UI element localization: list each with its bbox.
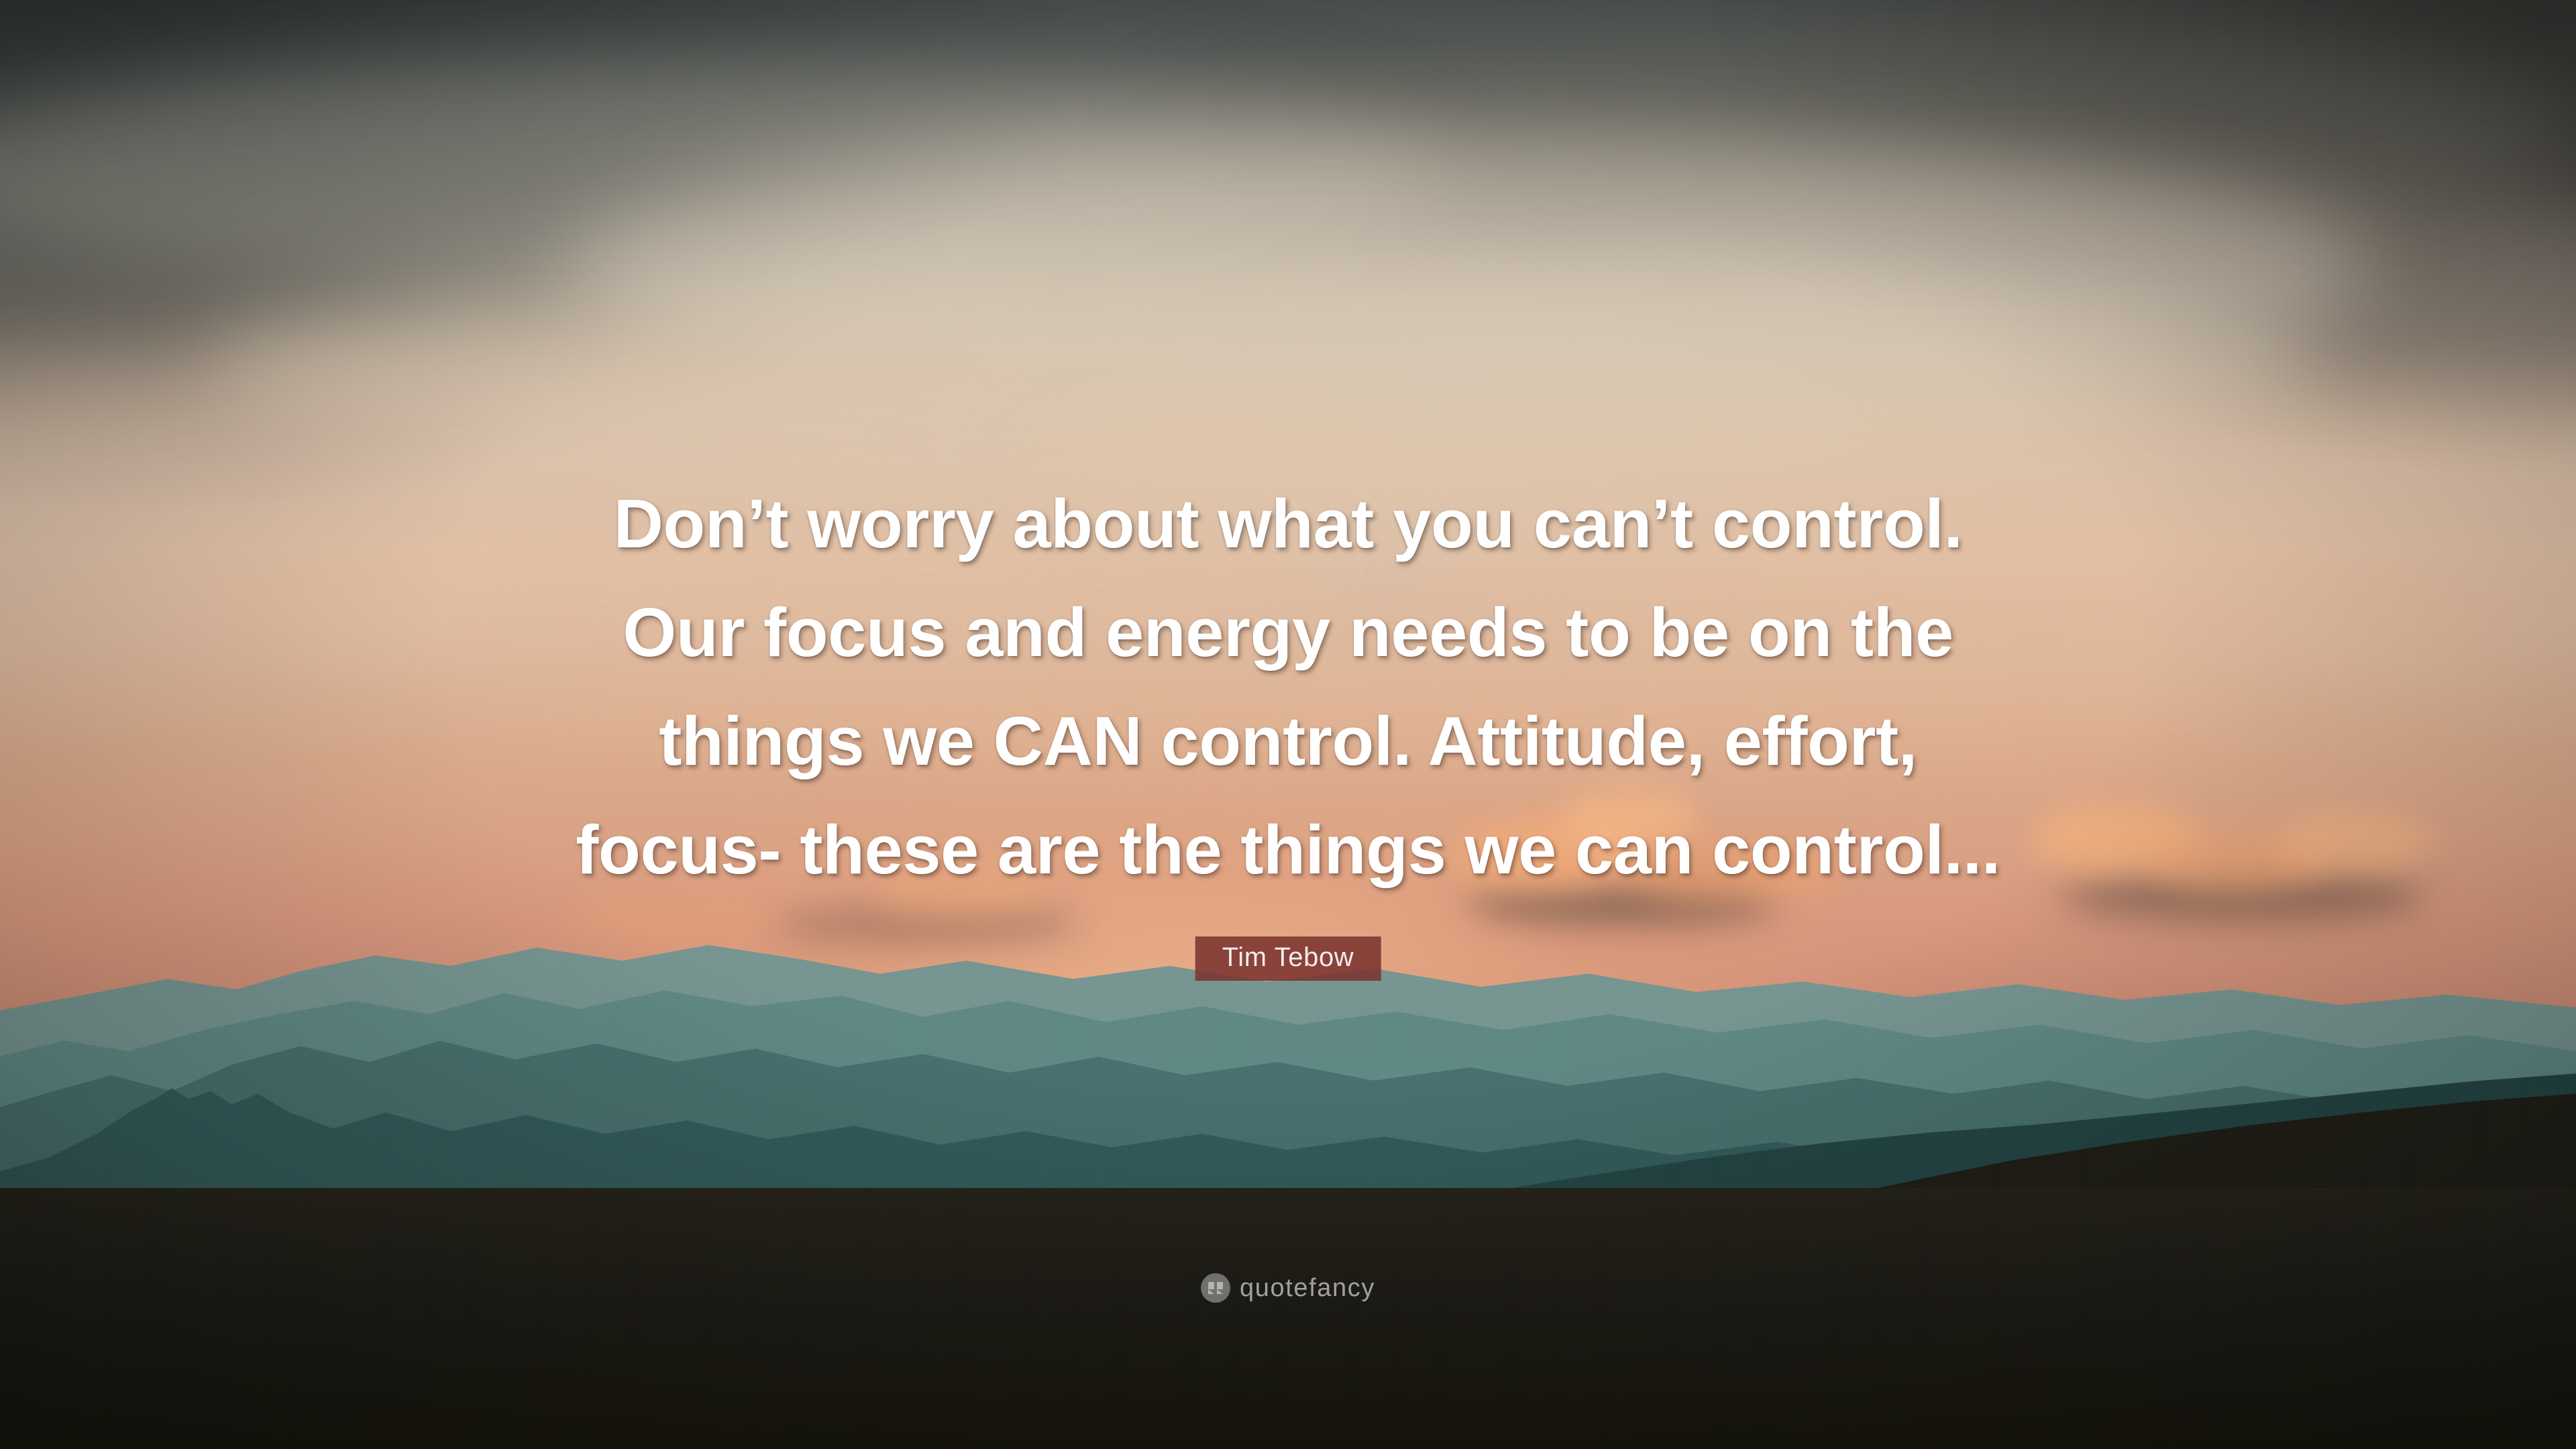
author-badge[interactable]: Tim Tebow: [1195, 936, 1381, 981]
quote-line-1: Don’t worry about what you can’t control…: [436, 470, 2140, 578]
quote-line-3: things we CAN control. Attitude, effort,: [436, 687, 2140, 796]
foreground-field: [0, 1188, 2576, 1449]
quote-mark-icon: [1201, 1273, 1230, 1303]
quote-line-2: Our focus and energy needs to be on the: [436, 578, 2140, 687]
quotefancy-watermark[interactable]: quotefancy: [1201, 1273, 1375, 1303]
quote-line-4: focus- these are the things we can contr…: [436, 796, 2140, 904]
quote-text-block: Don’t worry about what you can’t control…: [436, 470, 2140, 904]
quote-glyph-left: [1208, 1282, 1214, 1294]
watermark-brand-label: quotefancy: [1240, 1274, 1375, 1303]
quote-wallpaper: Don’t worry about what you can’t control…: [0, 0, 2576, 1449]
quote-glyph-right: [1217, 1282, 1223, 1294]
